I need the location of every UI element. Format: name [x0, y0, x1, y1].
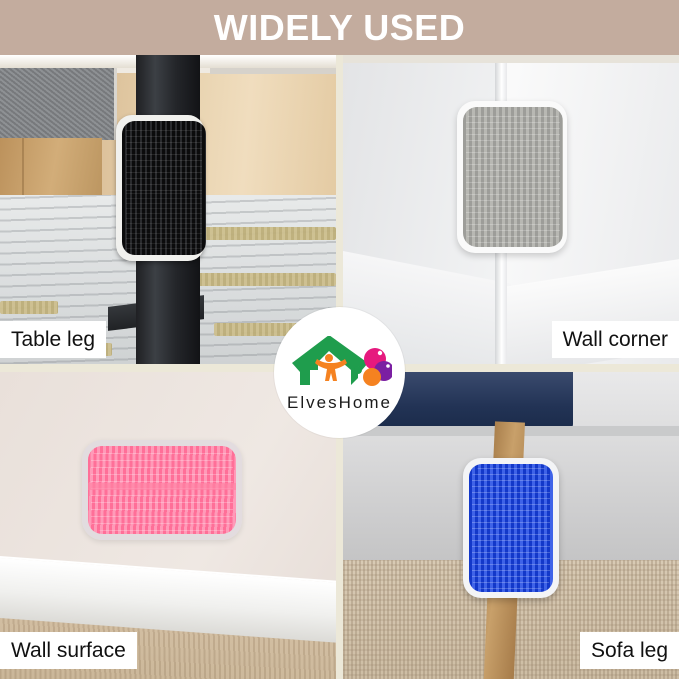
product-collage: WIDELY USED Tab — [0, 0, 679, 679]
caption-wall-surface: Wall surface — [0, 632, 137, 669]
cat-groomer-brush-black — [122, 121, 206, 255]
brand-name: ElvesHome — [287, 393, 392, 413]
panel-wall-surface: Wall surface — [0, 372, 336, 679]
photo-wall-corner — [343, 55, 679, 364]
cat-groomer-brush-pink — [88, 446, 236, 534]
ceiling-edge — [343, 55, 679, 63]
elveshome-logo-icon — [288, 336, 392, 392]
caption-sofa-leg: Sofa leg — [580, 632, 679, 669]
banner: WIDELY USED — [0, 0, 679, 55]
panel-wall-corner: Wall corner — [343, 55, 679, 364]
page-title: WIDELY USED — [214, 10, 466, 46]
cat-groomer-brush-blue — [469, 464, 553, 592]
rug-stripe — [196, 273, 336, 286]
panel-table-leg: Table leg — [0, 55, 336, 364]
cat-groomer-brush-grey — [463, 107, 563, 247]
photo-table-leg — [0, 55, 336, 364]
grey-upholstery — [0, 68, 117, 140]
brand-badge: ElvesHome — [274, 307, 405, 438]
rug-stripe — [0, 301, 58, 314]
panel-sofa-leg: Sofa leg — [343, 372, 679, 679]
caption-wall-corner: Wall corner — [552, 321, 679, 358]
caption-table-leg: Table leg — [0, 321, 106, 358]
